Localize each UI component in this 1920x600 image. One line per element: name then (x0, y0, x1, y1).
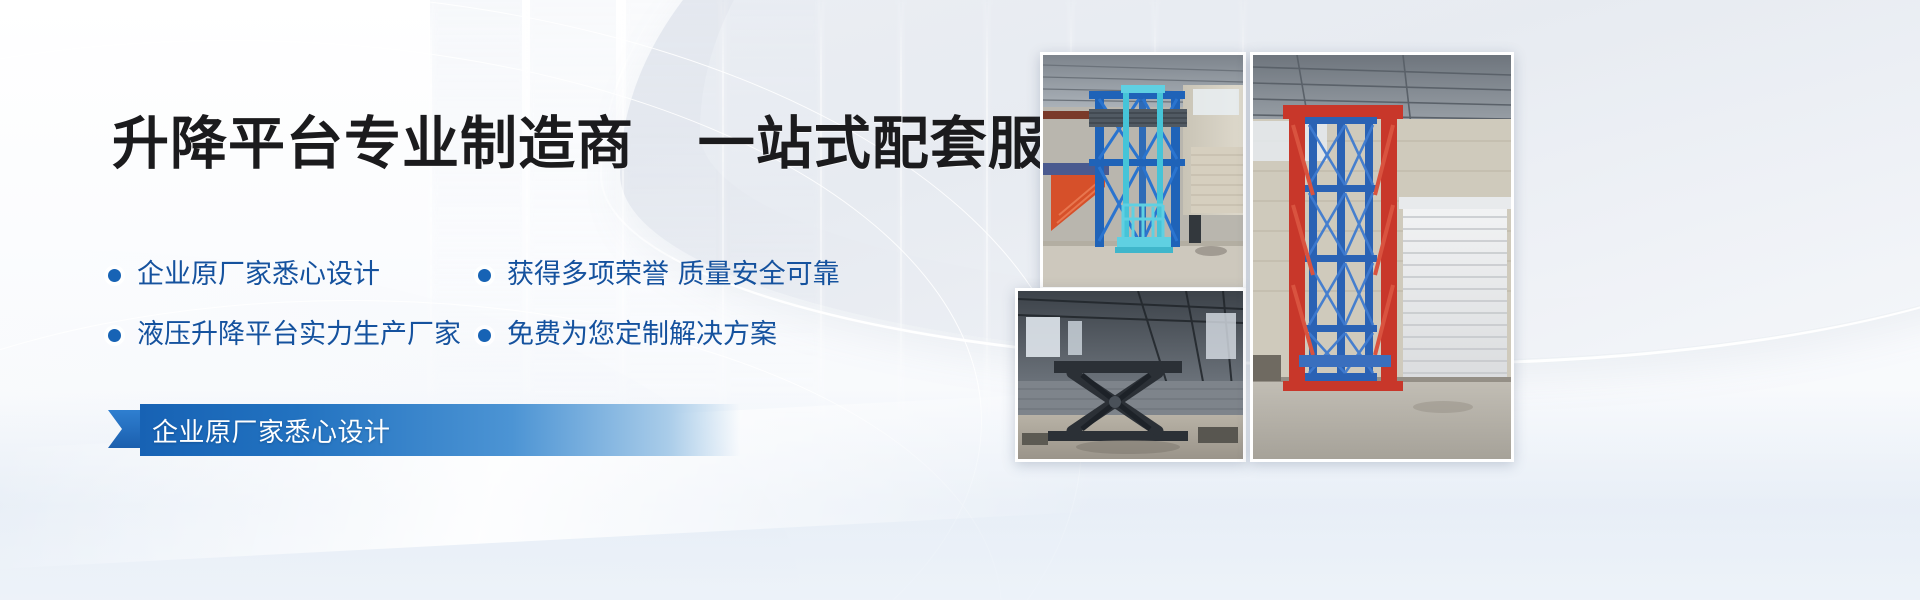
feature-item-manufacturer: 液压升降平台实力生产厂家 (108, 318, 478, 352)
banner-headline: 升降平台专业制造商 一站式配套服务 (112, 112, 1104, 176)
feature-label: 获得多项荣誉 质量安全可靠 (507, 258, 840, 292)
feature-label: 液压升降平台实力生产厂家 (137, 318, 461, 352)
feature-label: 免费为您定制解决方案 (507, 318, 777, 352)
photo-guide-rail-lift (1040, 52, 1246, 290)
feature-label: 企业原厂家悉心设计 (137, 258, 380, 292)
feature-item-design: 企业原厂家悉心设计 (108, 258, 478, 292)
photo-scissor-lift (1015, 288, 1246, 462)
feature-row: 液压升降平台实力生产厂家 免费为您定制解决方案 (108, 318, 968, 352)
promotional-banner: 升降平台专业制造商 一站式配套服务 企业原厂家悉心设计 获得多项荣誉 质量安全可… (0, 0, 1920, 600)
bullet-dot-icon (108, 269, 121, 282)
headline-part-one: 升降平台专业制造商 (112, 111, 634, 177)
feature-list: 企业原厂家悉心设计 获得多项荣誉 质量安全可靠 液压升降平台实力生产厂家 免费为… (108, 258, 968, 378)
feature-item-honors: 获得多项荣誉 质量安全可靠 (478, 258, 908, 292)
photo-gallery (1010, 0, 1920, 600)
feature-row: 企业原厂家悉心设计 获得多项荣誉 质量安全可靠 (108, 258, 968, 292)
banner-content: 升降平台专业制造商 一站式配套服务 企业原厂家悉心设计 获得多项荣誉 质量安全可… (0, 0, 1030, 600)
bullet-dot-icon (478, 269, 491, 282)
photo-cargo-lift-door (1250, 52, 1514, 462)
bullet-dot-icon (478, 329, 491, 342)
feature-item-free-solution: 免费为您定制解决方案 (478, 318, 908, 352)
highlight-ribbon: 企业原厂家悉心设计 (108, 404, 748, 456)
bullet-dot-icon (108, 329, 121, 342)
ribbon-label: 企业原厂家悉心设计 (152, 404, 391, 456)
